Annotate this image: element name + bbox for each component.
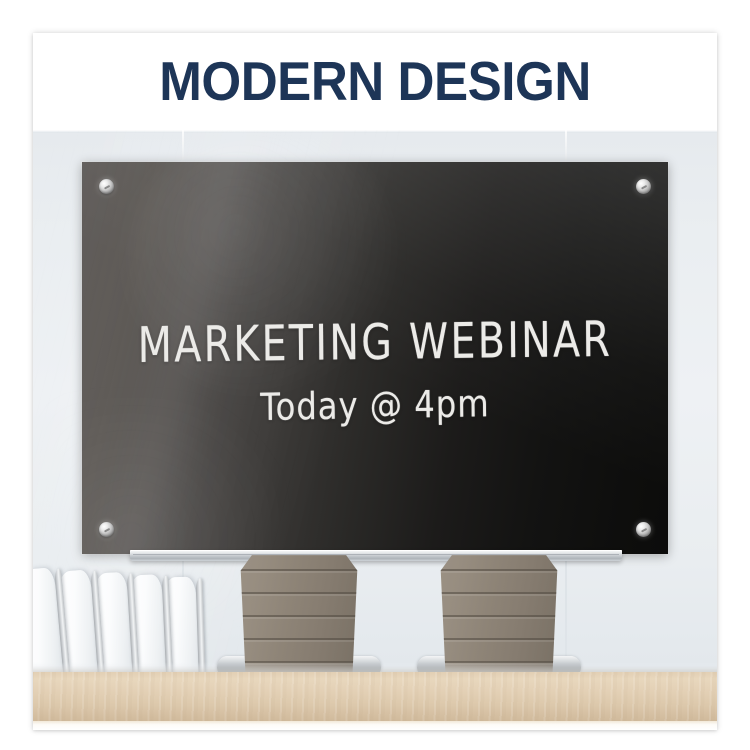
headline-band: MODERN DESIGN [33, 33, 717, 130]
executive-chair [221, 550, 377, 678]
standoff-mount-icon [636, 522, 651, 537]
chair-backrest [237, 550, 361, 678]
handwriting-headline: MARKETING WEBINAR [105, 315, 645, 371]
image-card: MODERN DESIGN [33, 33, 717, 730]
standoff-mount-icon [99, 522, 114, 537]
board-glass-surface: MARKETING WEBINAR Today @ 4pm [82, 162, 668, 554]
executive-chair [421, 550, 577, 678]
conference-room-photo: MARKETING WEBINAR Today @ 4pm [33, 130, 717, 730]
glass-dry-erase-board: MARKETING WEBINAR Today @ 4pm [82, 162, 668, 554]
standoff-mount-icon [99, 179, 114, 194]
board-reflection-glow [129, 130, 399, 397]
page-title: MODERN DESIGN [159, 54, 591, 109]
foreground-furniture [33, 540, 717, 730]
table-front-edge [33, 721, 717, 730]
standoff-mount-icon [636, 179, 651, 194]
chair-stitch-ribs [237, 550, 361, 678]
chair-backrest [437, 550, 561, 678]
wall-top-edge [33, 130, 717, 133]
chair-stitch-ribs [437, 550, 561, 678]
board-handwriting: MARKETING WEBINAR Today @ 4pm [82, 322, 668, 423]
table-wood-grain [33, 672, 717, 721]
board-reflection-sheen [82, 162, 668, 554]
handwriting-subline: Today @ 4pm [96, 383, 653, 429]
product-marketing-image: MODERN DESIGN [0, 0, 750, 750]
conference-table [33, 672, 717, 730]
